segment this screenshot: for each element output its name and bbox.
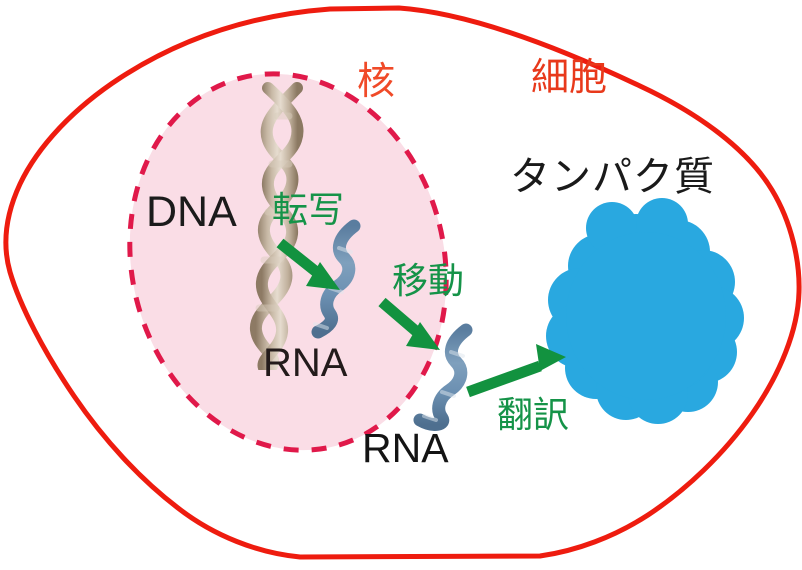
- label-nucleus: 核: [357, 62, 395, 100]
- label-rna-nuclear: RNA: [263, 343, 347, 383]
- label-cell: 細胞: [531, 58, 607, 96]
- label-transcription: 転写: [272, 193, 344, 229]
- cell-diagram: DNA RNA RNA 核 細胞 タンパク質 転写 移動 翻訳: [0, 0, 802, 570]
- arrow-translation: [468, 344, 566, 392]
- protein-blob: [546, 198, 744, 424]
- label-translation: 翻訳: [497, 398, 569, 434]
- label-protein: タンパク質: [510, 157, 715, 197]
- label-dna: DNA: [146, 191, 237, 234]
- label-rna-cytoplasm: RNA: [362, 428, 449, 469]
- label-transport: 移動: [392, 264, 464, 300]
